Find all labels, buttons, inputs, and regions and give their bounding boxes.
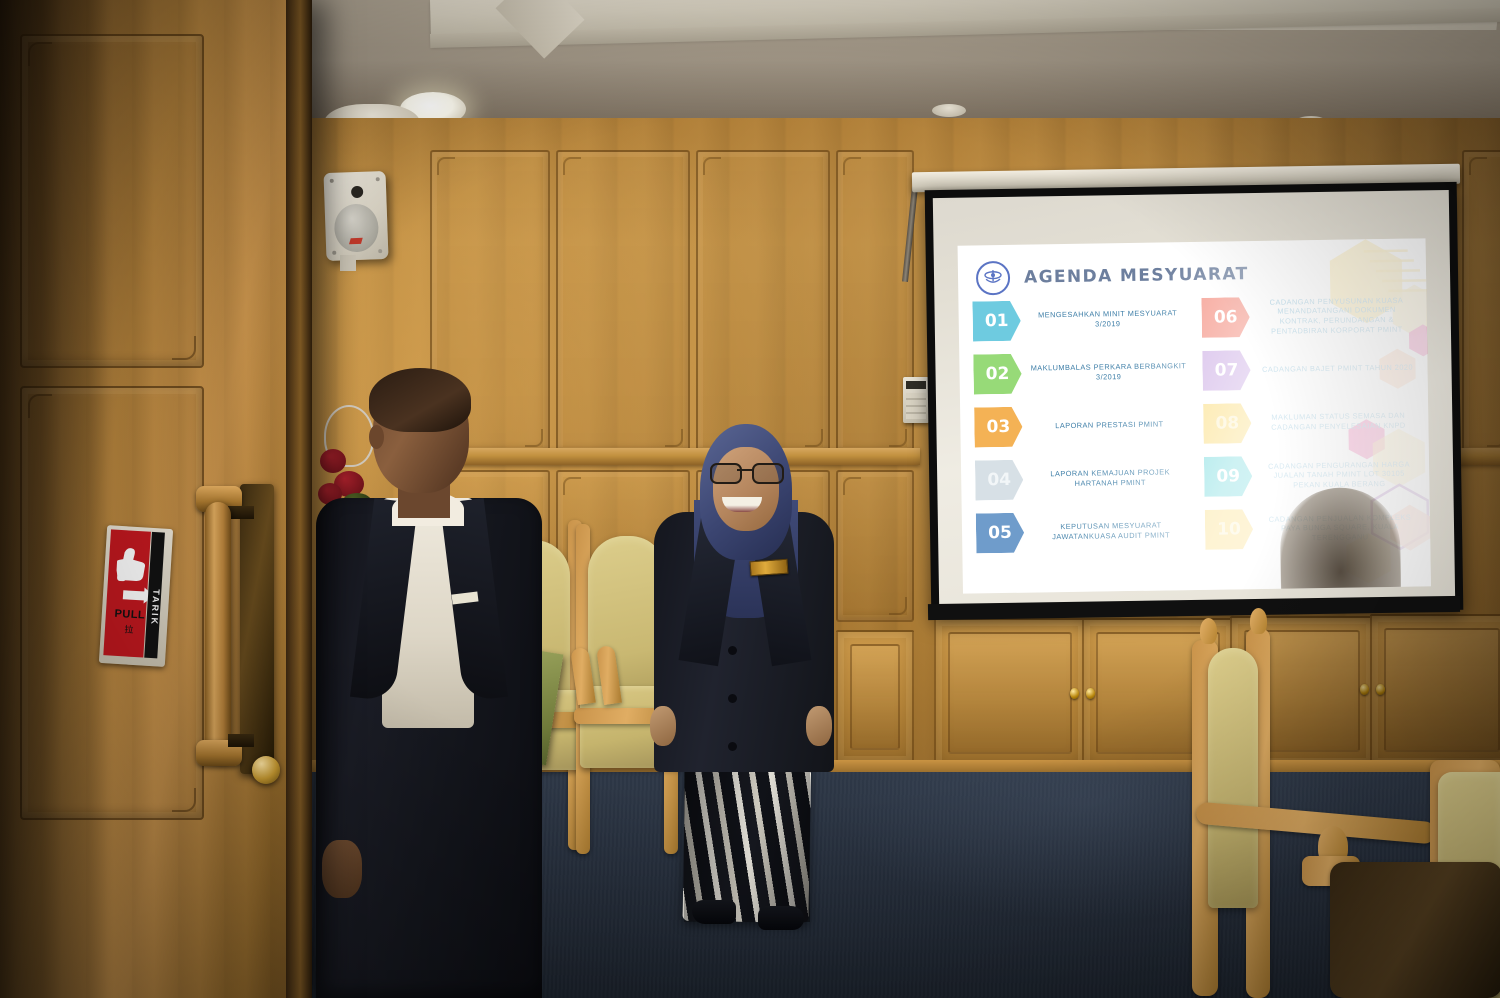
cabinet-knob[interactable] bbox=[1086, 688, 1095, 699]
woman-shoe-left bbox=[692, 900, 736, 924]
wall-mounted-speaker-icon bbox=[323, 171, 388, 261]
agenda-item: 07 CADANGAN BAJET PMINT TAHUN 2020 bbox=[1202, 345, 1418, 392]
agenda-number-badge: 08 bbox=[1203, 403, 1252, 444]
wall-panel bbox=[556, 150, 690, 454]
wall-cabinet-door[interactable] bbox=[836, 630, 914, 764]
brass-door-lock[interactable] bbox=[252, 756, 280, 784]
door-handle-stem-top bbox=[228, 506, 254, 519]
agenda-item-text: MENGESAHKAN MINIT MESYUARAT 3/2019 bbox=[1021, 308, 1188, 330]
agenda-column-left: 01 MENGESAHKAN MINIT MESYUARAT 3/2019 02… bbox=[972, 296, 1191, 564]
pull-door-sign: PULL 拉 TARIK bbox=[99, 525, 173, 667]
agenda-item: 09 CADANGAN PENGURANGAN HARGA JUALAN TAN… bbox=[1204, 451, 1420, 498]
door-handle-backplate bbox=[240, 484, 274, 774]
wall-control-panel[interactable] bbox=[903, 377, 929, 423]
woman-hand-right bbox=[806, 706, 832, 746]
pull-arrow-icon bbox=[123, 590, 146, 600]
agenda-number-badge: 02 bbox=[973, 354, 1022, 395]
woman-glasses-icon bbox=[710, 463, 782, 480]
agenda-number-badge: 01 bbox=[972, 301, 1021, 342]
control-panel-display bbox=[906, 381, 926, 389]
sign-pull-label: PULL bbox=[108, 607, 153, 622]
chair-back-cushion bbox=[1208, 648, 1258, 908]
agenda-item: 04 LAPORAN KEMAJUAN PROJEK HARTANAH PMIN… bbox=[975, 455, 1191, 502]
agenda-item: 08 MAKLUMAN STATUS SEMASA DAN CADANGAN P… bbox=[1203, 398, 1419, 445]
wall-panel bbox=[836, 470, 914, 622]
man-hair bbox=[369, 368, 471, 432]
agenda-item-text: CADANGAN PENYUSUNAN KUASA MENANDATANGANI… bbox=[1249, 295, 1417, 336]
agenda-number-badge: 09 bbox=[1204, 456, 1253, 497]
chair-finial bbox=[1200, 618, 1217, 644]
sign-red-field: PULL 拉 bbox=[103, 529, 151, 657]
agenda-item: 05 KEPUTUSAN MESYUARAT JAWATANKUASA AUDI… bbox=[976, 508, 1192, 555]
agenda-item: 02 MAKLUMBALAS PERKARA BERBANGKIT 3/2019 bbox=[973, 349, 1189, 396]
agenda-number-badge: 07 bbox=[1202, 350, 1251, 391]
agenda-item-text: MAKLUMAN STATUS SEMASA DAN CADANGAN PENY… bbox=[1251, 411, 1418, 433]
agenda-item-text: LAPORAN KEMAJUAN PROJEK HARTANAH PMINT bbox=[1023, 467, 1190, 489]
agenda-item-text: KEPUTUSAN MESYUARAT JAWATANKUASA AUDIT P… bbox=[1024, 520, 1191, 542]
meeting-room-photo: AGENDA MESYUARAT 01 MENGESAHKAN MINIT ME… bbox=[0, 0, 1500, 998]
door-shadow bbox=[0, 0, 114, 998]
agenda-number-badge: 10 bbox=[1205, 509, 1254, 550]
smoke-detector-icon bbox=[932, 104, 966, 117]
woman-face bbox=[713, 447, 779, 531]
woman-shoe-right bbox=[758, 906, 804, 930]
projection-surface: AGENDA MESYUARAT 01 MENGESAHKAN MINIT ME… bbox=[933, 190, 1455, 610]
man-hand bbox=[322, 840, 362, 898]
man-ear bbox=[369, 425, 384, 449]
agenda-number-badge: 04 bbox=[975, 460, 1024, 501]
wall-cabinet-door[interactable] bbox=[934, 618, 1086, 768]
speaker-woofer bbox=[334, 203, 380, 253]
wall-panel bbox=[696, 150, 830, 454]
ornate-door-pull-handle[interactable] bbox=[205, 502, 231, 762]
agenda-item: 03 LAPORAN PRESTASI PMINT bbox=[974, 402, 1190, 449]
agenda-item-text: CADANGAN PENGURANGAN HARGA JUALAN TANAH … bbox=[1252, 459, 1419, 490]
control-panel-buttons[interactable] bbox=[906, 393, 926, 419]
agenda-number-badge: 05 bbox=[976, 513, 1025, 554]
cabinet-knob[interactable] bbox=[1070, 688, 1079, 699]
state-crest-emblem-icon bbox=[976, 261, 1011, 296]
carpet-light-pool bbox=[830, 772, 1350, 922]
slide-title: AGENDA MESYUARAT bbox=[1024, 264, 1249, 288]
woman-name-badge bbox=[750, 559, 789, 577]
projected-slide: AGENDA MESYUARAT 01 MENGESAHKAN MINIT ME… bbox=[958, 238, 1431, 593]
speaker-logo bbox=[349, 238, 363, 244]
door-edge bbox=[286, 0, 312, 998]
agenda-item-text: LAPORAN PRESTASI PMINT bbox=[1022, 419, 1189, 431]
woman-hand-left bbox=[650, 706, 676, 746]
door-handle-stem-bottom bbox=[228, 734, 254, 747]
projection-screen: AGENDA MESYUARAT 01 MENGESAHKAN MINIT ME… bbox=[925, 182, 1464, 618]
slide-header: AGENDA MESYUARAT bbox=[976, 257, 1249, 295]
chair-rail bbox=[420, 448, 920, 465]
agenda-item: 06 CADANGAN PENYUSUNAN KUASA MENANDATANG… bbox=[1201, 292, 1417, 339]
speaker-tweeter bbox=[351, 186, 363, 198]
chair-back-dark bbox=[1330, 862, 1500, 998]
agenda-item-text: MAKLUMBALAS PERKARA BERBANGKIT 3/2019 bbox=[1021, 361, 1188, 383]
agenda-item-text: CADANGAN BAJET PMINT TAHUN 2020 bbox=[1250, 363, 1417, 375]
speaker-bracket bbox=[340, 255, 356, 271]
pull-hand-icon bbox=[115, 544, 148, 590]
agenda-number-badge: 06 bbox=[1201, 297, 1250, 338]
chair-finial bbox=[1250, 608, 1267, 634]
agenda-number-badge: 03 bbox=[974, 407, 1023, 448]
agenda-item: 01 MENGESAHKAN MINIT MESYUARAT 3/2019 bbox=[972, 296, 1188, 343]
